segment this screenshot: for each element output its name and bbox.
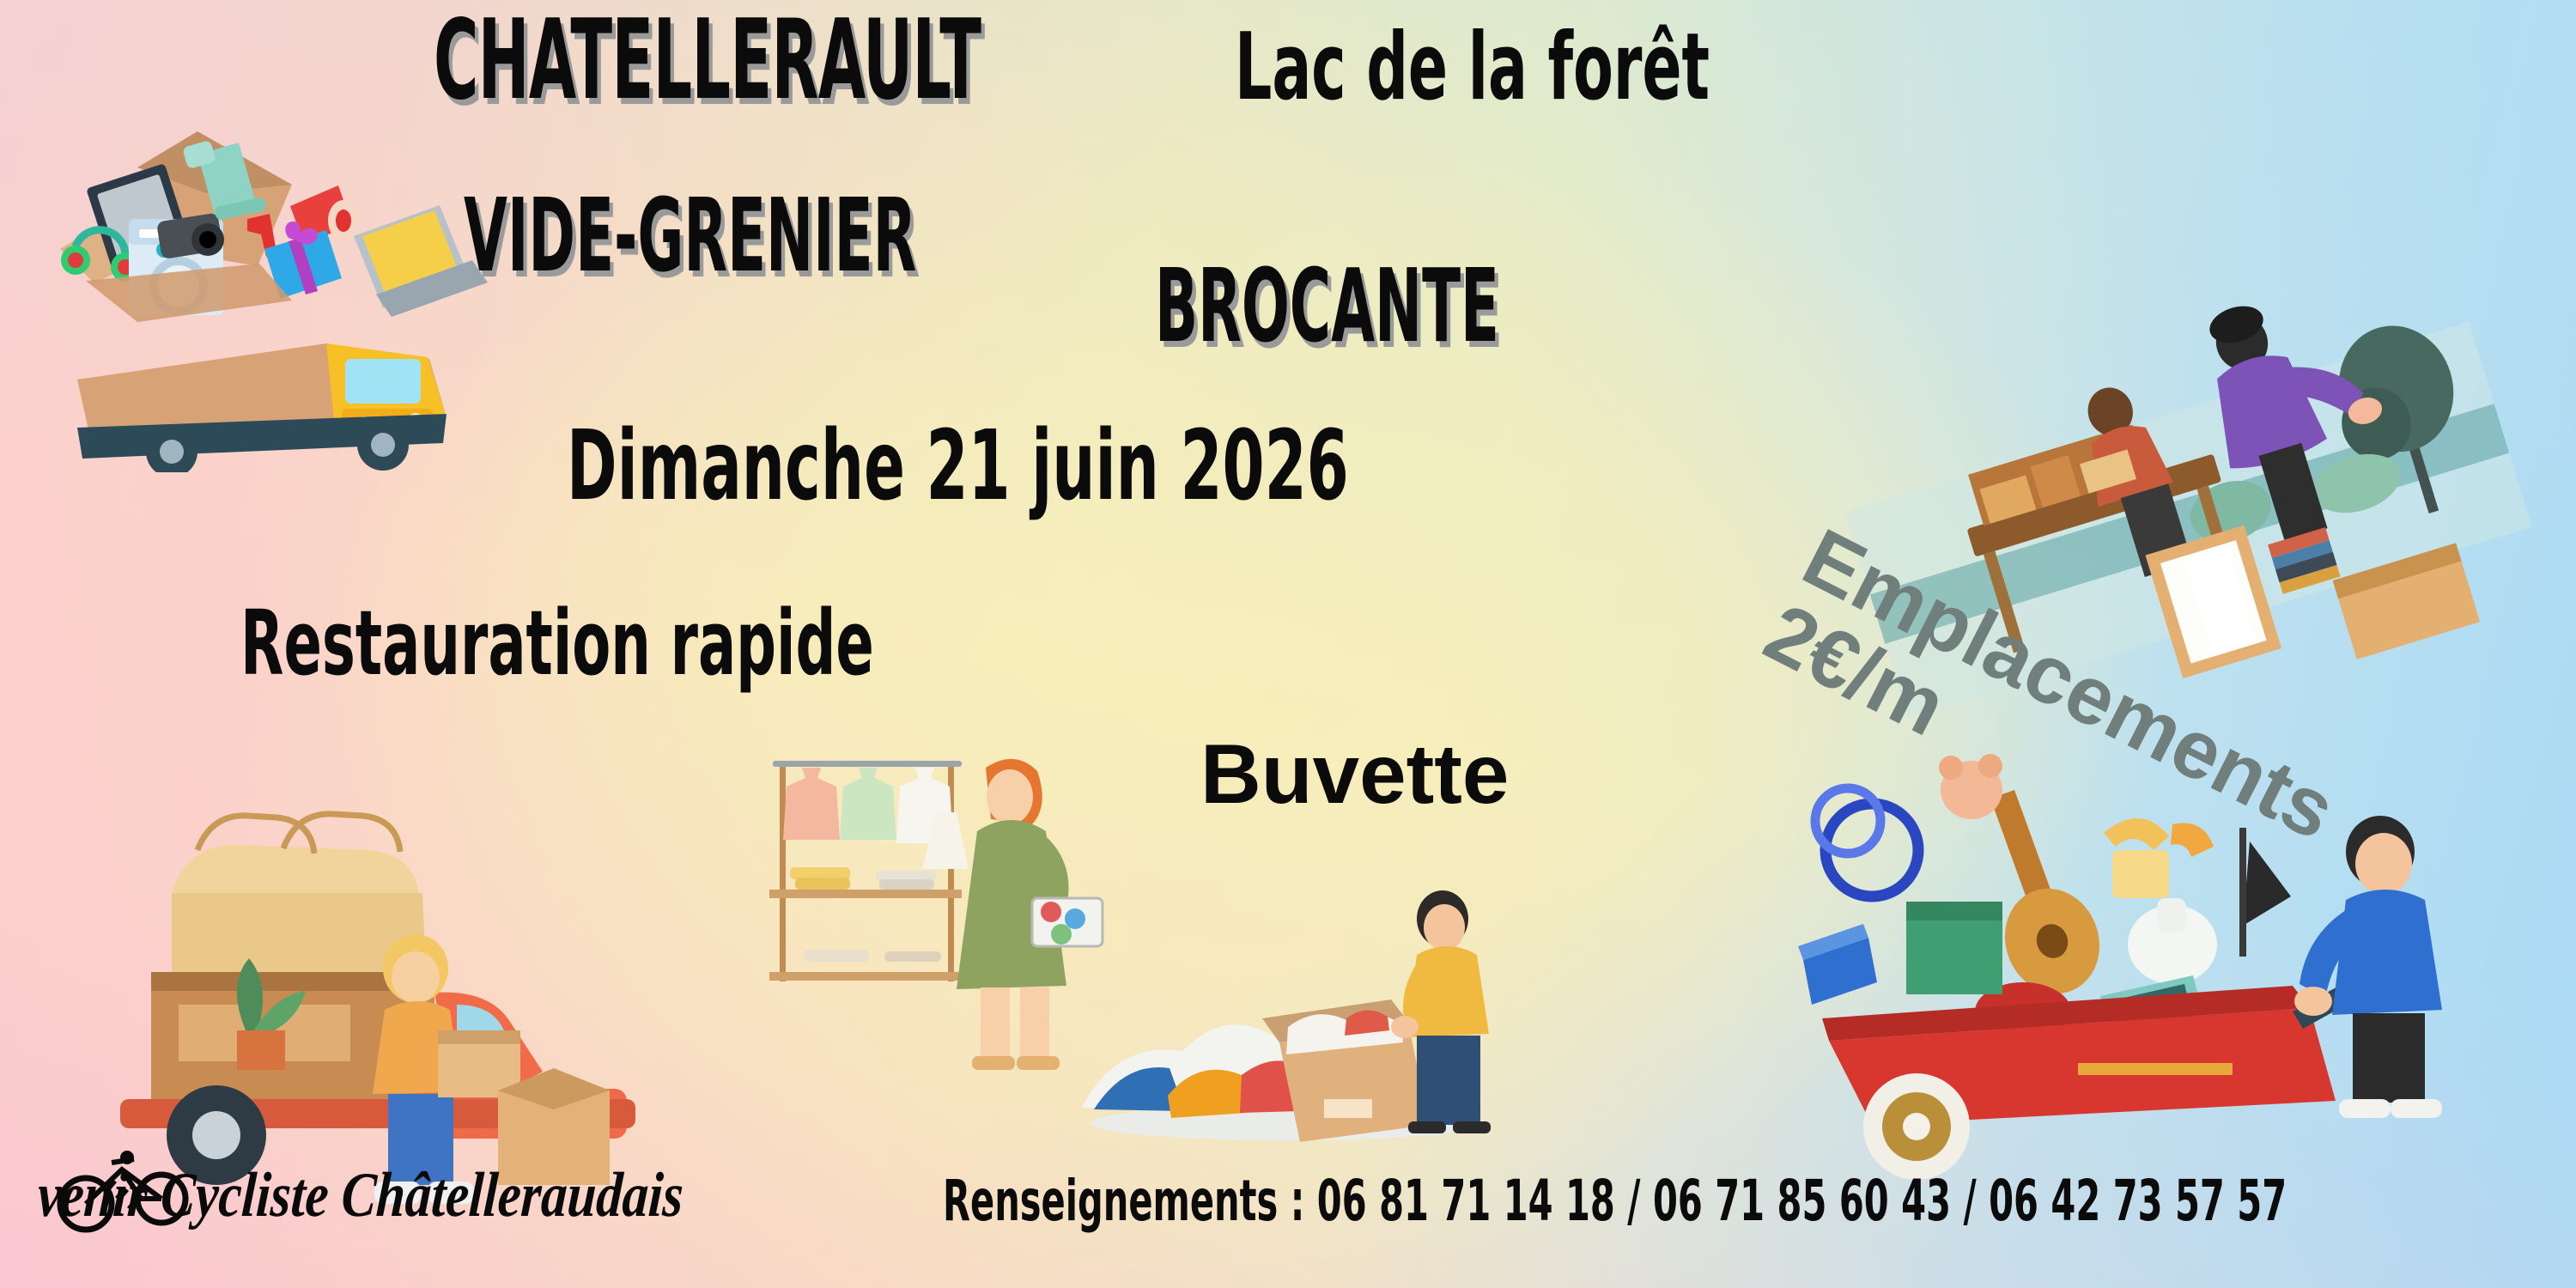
venue-heading-text: Lac de la forêt xyxy=(1235,24,1710,112)
event-main-heading-text: VIDE-GRENIER xyxy=(464,187,916,283)
poster-canvas: CHATELLERAULT Lac de la forêt VIDE-GRENI… xyxy=(0,0,2576,1288)
city-heading: CHATELLERAULT xyxy=(434,9,1316,113)
service-drinks-text: Buvette xyxy=(1200,726,1509,821)
contact-line: Renseignements : 06 81 71 14 18 / 06 71 … xyxy=(943,1175,2576,1229)
event-date: Dimanche 21 juin 2026 xyxy=(567,421,1684,512)
bicycle-logo-icon xyxy=(48,1147,211,1242)
event-main-heading: VIDE-GRENIER xyxy=(464,187,1194,283)
venue-heading: Lac de la forêt xyxy=(1235,24,1913,112)
event-secondary-heading: BROCANTE xyxy=(1155,258,1710,354)
event-date-text: Dimanche 21 juin 2026 xyxy=(567,421,1349,512)
woman-sorting-donation-boxes-illustration xyxy=(1073,859,1520,1142)
contact-line-text: Renseignements : 06 81 71 14 18 / 06 71 … xyxy=(943,1175,2287,1229)
service-food: Restauration rapide xyxy=(240,601,1145,686)
service-food-text: Restauration rapide xyxy=(240,601,874,686)
event-secondary-heading-text: BROCANTE xyxy=(1155,258,1499,354)
city-heading-text: CHATELLERAULT xyxy=(434,9,981,113)
service-drinks: Buvette xyxy=(1200,726,1509,823)
